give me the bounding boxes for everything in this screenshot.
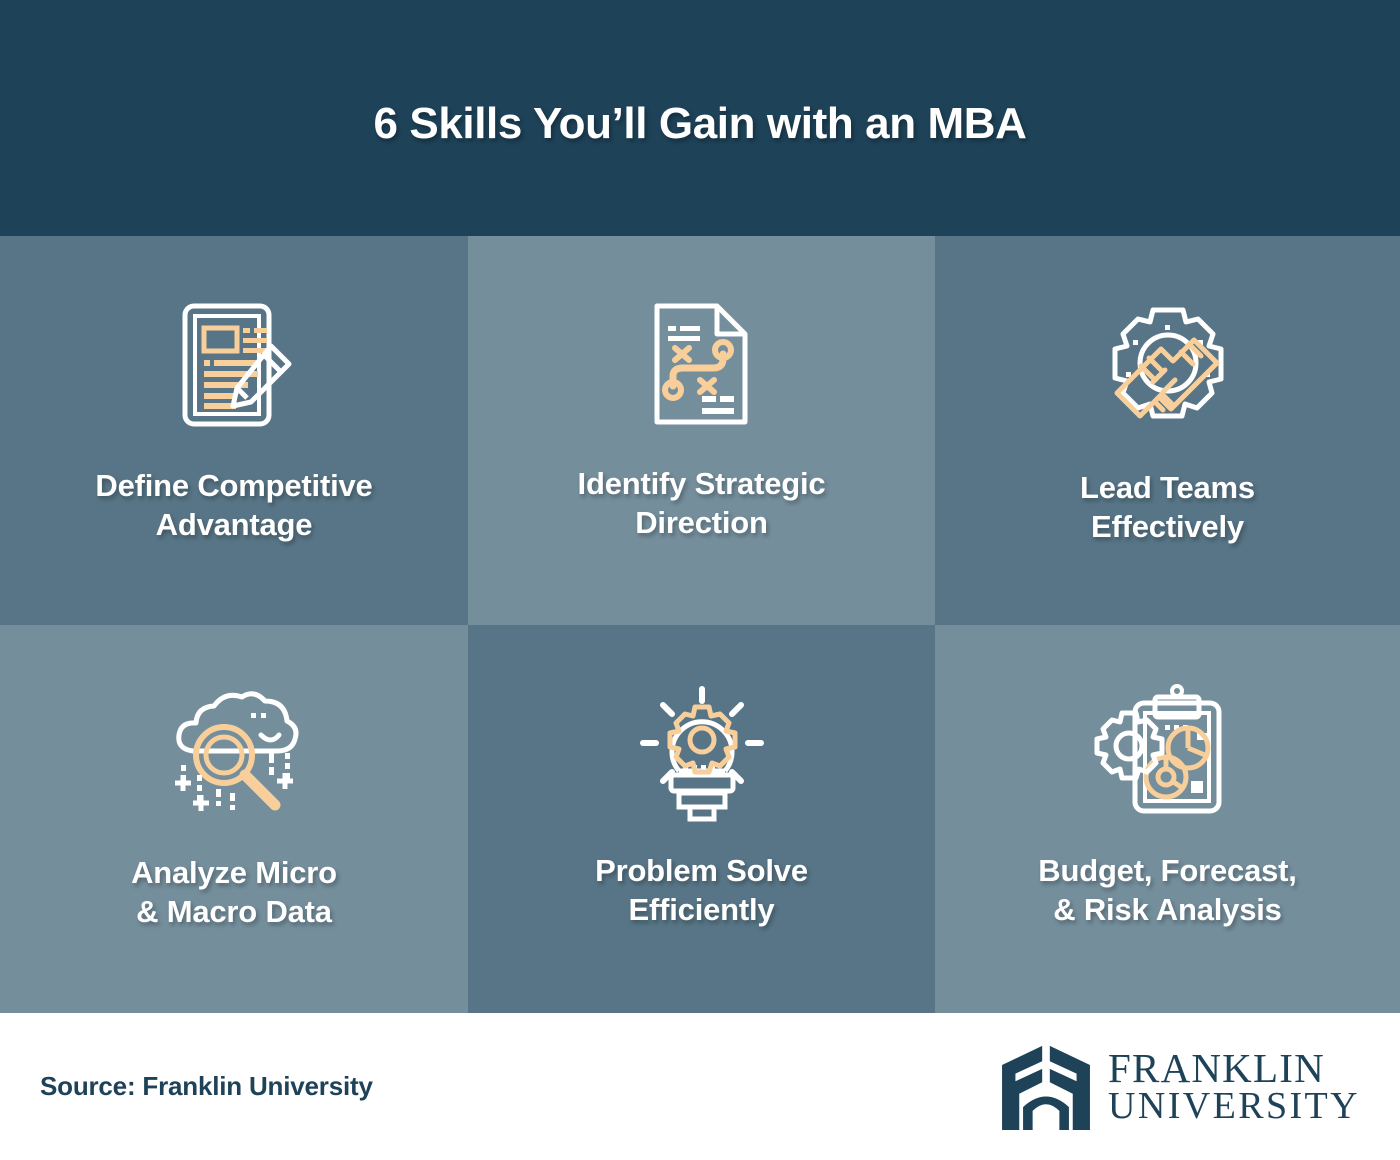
logo-line-university: UNIVERSITY — [1108, 1088, 1360, 1125]
skill-card-label: Problem Solve Efficiently — [581, 851, 822, 929]
infographic-root: 6 Skills You’ll Gain with an MBA — [0, 0, 1400, 1160]
source-attribution: Source: Franklin University — [40, 1071, 373, 1102]
skill-card-label: Analyze Micro & Macro Data — [117, 853, 351, 931]
skill-card-identify-strategic-direction[interactable]: Identify Strategic Direction — [468, 236, 935, 625]
skill-card-analyze-micro-macro-data[interactable]: Analyze Micro & Macro Data — [0, 625, 468, 1014]
footer-bar: Source: Franklin University FRANKLIN UNI… — [0, 1013, 1400, 1160]
franklin-arch-logo-icon — [998, 1044, 1094, 1130]
skill-card-label: Lead Teams Effectively — [1066, 468, 1269, 546]
skill-card-label: Budget, Forecast, & Risk Analysis — [1024, 851, 1310, 929]
cloud-magnifier-data-icon — [159, 677, 309, 827]
page-title: 6 Skills You’ll Gain with an MBA — [373, 87, 1026, 149]
skills-grid: Define Competitive Advantage — [0, 236, 1400, 1013]
skill-card-define-competitive-advantage[interactable]: Define Competitive Advantage — [0, 236, 468, 625]
strategy-document-icon — [627, 288, 777, 438]
skill-card-budget-forecast-risk-analysis[interactable]: Budget, Forecast, & Risk Analysis — [935, 625, 1400, 1014]
skill-card-problem-solve-efficiently[interactable]: Problem Solve Efficiently — [468, 625, 935, 1014]
logo-wordmark: FRANKLIN UNIVERSITY — [1108, 1048, 1360, 1125]
handshake-gear-icon — [1093, 292, 1243, 442]
clipboard-charts-gear-icon — [1093, 675, 1243, 825]
logo-line-franklin: FRANKLIN — [1108, 1048, 1360, 1088]
franklin-university-logo[interactable]: FRANKLIN UNIVERSITY — [998, 1044, 1360, 1130]
lightbulb-gear-icon — [627, 675, 777, 825]
skill-card-lead-teams-effectively[interactable]: Lead Teams Effectively — [935, 236, 1400, 625]
skill-card-label: Identify Strategic Direction — [564, 464, 840, 542]
document-pencil-icon — [159, 290, 309, 440]
header-banner: 6 Skills You’ll Gain with an MBA — [0, 0, 1400, 236]
skill-card-label: Define Competitive Advantage — [81, 466, 386, 544]
